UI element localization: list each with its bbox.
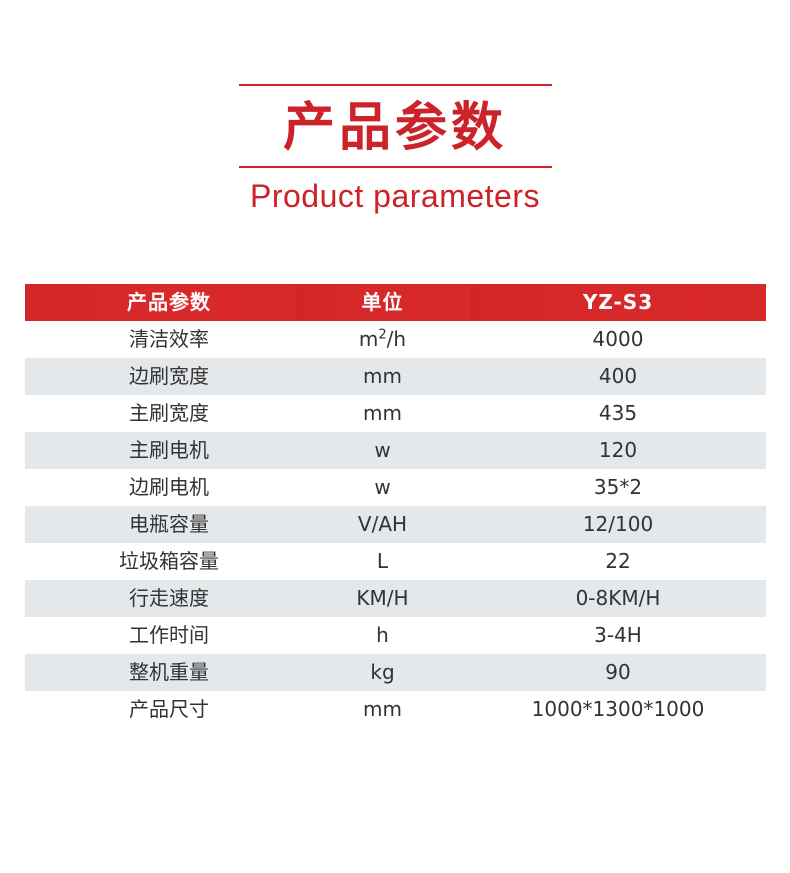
cell-parameter-name: 垃圾箱容量	[25, 543, 295, 580]
cell-unit: KM/H	[295, 580, 470, 617]
cell-parameter-name: 产品尺寸	[25, 691, 295, 728]
table-row: 行走速度KM/H0-8KM/H	[25, 580, 766, 617]
cell-unit: mm	[295, 395, 470, 432]
title-rule-bottom	[239, 166, 552, 168]
table-row: 主刷宽度mm435	[25, 395, 766, 432]
page-title-en: Product parameters	[0, 174, 790, 218]
cell-value: 22	[470, 543, 766, 580]
cell-value: 1000*1300*1000	[470, 691, 766, 728]
cell-value: 4000	[470, 321, 766, 358]
cell-value: 90	[470, 654, 766, 691]
cell-value: 120	[470, 432, 766, 469]
cell-parameter-name: 边刷宽度	[25, 358, 295, 395]
cell-parameter-name: 主刷宽度	[25, 395, 295, 432]
cell-unit: L	[295, 543, 470, 580]
table-body: 清洁效率m2/h4000边刷宽度mm400主刷宽度mm435主刷电机w120边刷…	[25, 321, 766, 728]
table-row: 主刷电机w120	[25, 432, 766, 469]
table-row: 产品尺寸mm1000*1300*1000	[25, 691, 766, 728]
table-row: 整机重量kg90	[25, 654, 766, 691]
title-rule-top	[239, 84, 552, 86]
cell-parameter-name: 主刷电机	[25, 432, 295, 469]
cell-value: 12/100	[470, 506, 766, 543]
table-header: 产品参数 单位 YZ-S3	[25, 284, 766, 321]
column-header-unit: 单位	[295, 284, 470, 321]
table-row: 边刷宽度mm400	[25, 358, 766, 395]
column-header-model: YZ-S3	[470, 284, 766, 321]
cell-parameter-name: 边刷电机	[25, 469, 295, 506]
table-header-row: 产品参数 单位 YZ-S3	[25, 284, 766, 321]
cell-value: 3-4H	[470, 617, 766, 654]
column-header-parameter: 产品参数	[25, 284, 295, 321]
cell-value: 35*2	[470, 469, 766, 506]
cell-parameter-name: 清洁效率	[25, 321, 295, 358]
cell-unit: h	[295, 617, 470, 654]
cell-unit: V/AH	[295, 506, 470, 543]
cell-unit: mm	[295, 358, 470, 395]
table-row: 工作时间h3-4H	[25, 617, 766, 654]
cell-parameter-name: 电瓶容量	[25, 506, 295, 543]
table-row: 电瓶容量V/AH12/100	[25, 506, 766, 543]
cell-unit: w	[295, 469, 470, 506]
cell-unit: mm	[295, 691, 470, 728]
product-parameters-table: 产品参数 单位 YZ-S3 清洁效率m2/h4000边刷宽度mm400主刷宽度m…	[25, 284, 766, 728]
cell-unit: m2/h	[295, 321, 470, 358]
cell-parameter-name: 行走速度	[25, 580, 295, 617]
cell-parameter-name: 工作时间	[25, 617, 295, 654]
table-row: 边刷电机w35*2	[25, 469, 766, 506]
cell-unit: w	[295, 432, 470, 469]
cell-parameter-name: 整机重量	[25, 654, 295, 691]
cell-value: 435	[470, 395, 766, 432]
page-title-block: 产品参数 Product parameters	[0, 0, 790, 218]
cell-value: 0-8KM/H	[470, 580, 766, 617]
cell-value: 400	[470, 358, 766, 395]
table-row: 清洁效率m2/h4000	[25, 321, 766, 358]
cell-unit: kg	[295, 654, 470, 691]
table-row: 垃圾箱容量L22	[25, 543, 766, 580]
page-title-cn: 产品参数	[0, 94, 790, 162]
